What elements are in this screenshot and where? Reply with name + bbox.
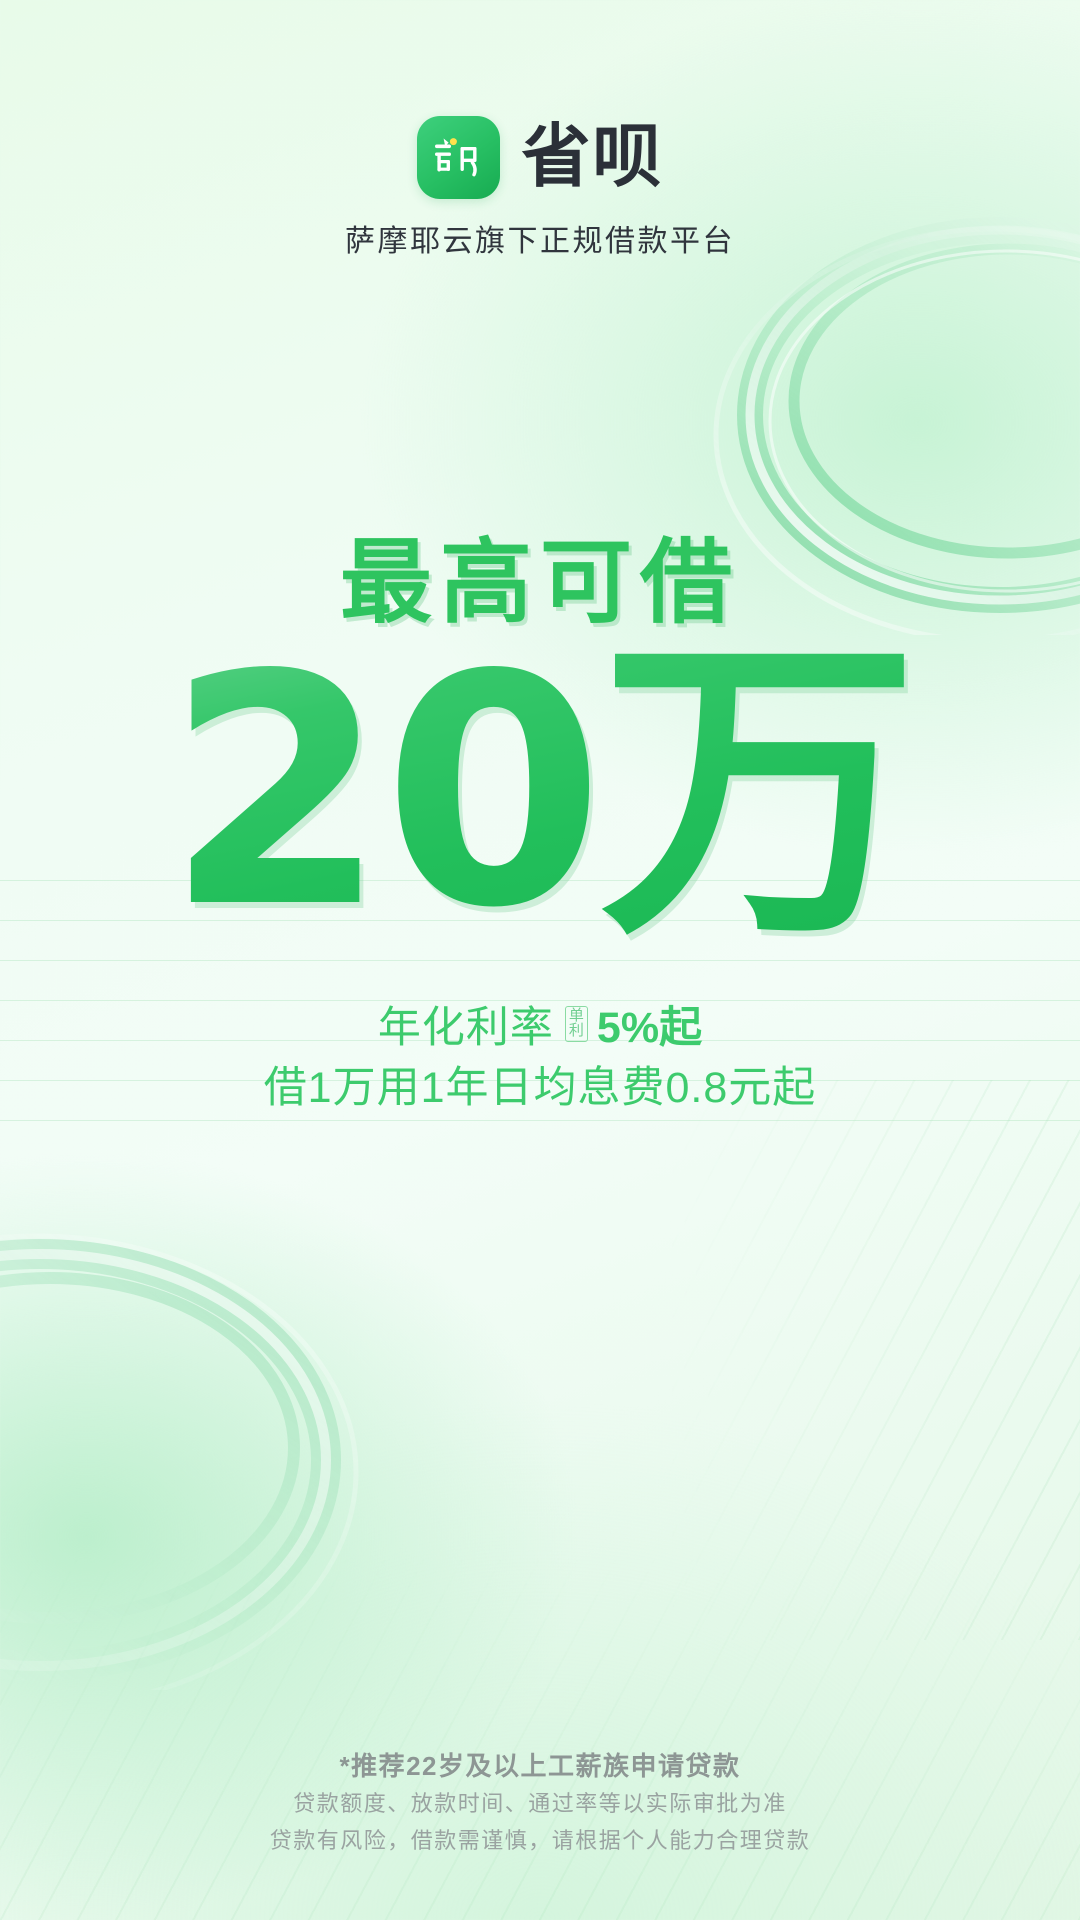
footer-note-2: 贷款有风险，借款需谨慎，请根据个人能力合理贷款 bbox=[0, 1823, 1080, 1855]
shengbei-app-logo-icon bbox=[417, 116, 500, 199]
diagonal-hatch-right bbox=[650, 1080, 1080, 1640]
annual-rate-value: 5%起 bbox=[597, 993, 702, 1055]
daily-interest-line: 借1万用1年日均息费0.8元起 bbox=[0, 1053, 1080, 1115]
annual-rate-label: 年化利率 bbox=[378, 993, 554, 1055]
simple-interest-badge-char-2: 利 bbox=[569, 1024, 584, 1039]
diagonal-hatch-bottom bbox=[0, 1490, 1080, 1920]
simple-interest-badge: 单 利 bbox=[565, 1006, 588, 1041]
brand-header: 省呗 bbox=[0, 116, 1080, 199]
hero-amount: 20万 bbox=[0, 633, 1080, 951]
brand-name: 省呗 bbox=[522, 123, 664, 192]
glossy-ring-bottom-left-icon bbox=[0, 1210, 360, 1690]
footer-highlight: *推荐22岁及以上工薪族申请贷款 bbox=[0, 1746, 1080, 1783]
promo-poster: { "brand": { "logo_icon": "shengbei-app-… bbox=[0, 0, 1080, 1920]
footer-note-1: 贷款额度、放款时间、通过率等以实际审批为准 bbox=[0, 1786, 1080, 1818]
annual-rate-line: 年化利率 单 利 5%起 bbox=[0, 993, 1080, 1055]
brand-tagline: 萨摩耶云旗下正规借款平台 bbox=[0, 216, 1080, 260]
